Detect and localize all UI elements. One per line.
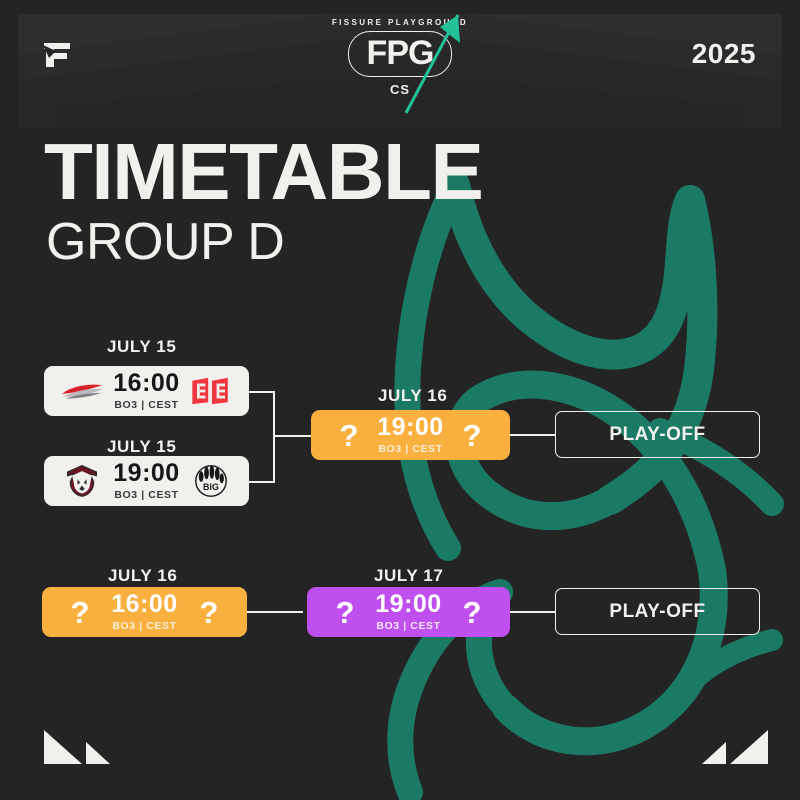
match-info: 19:00 BO3 | CEST <box>369 592 448 632</box>
match-card-winners-final[interactable]: ? 19:00 BO3 | CEST ? <box>311 410 510 460</box>
match-time: 19:00 <box>375 592 441 617</box>
match-info: 19:00 BO3 | CEST <box>373 415 448 455</box>
match-format: BO3 | CEST <box>376 620 440 632</box>
match-date-upper-2: JULY 15 <box>107 437 176 457</box>
match-date-upper-1: JULY 15 <box>107 337 176 357</box>
match-info: 19:00 BO3 | CEST <box>106 461 187 501</box>
bracket: JULY 15 16:00 BO3 | CEST <box>0 0 800 800</box>
question-mark-icon: ? <box>200 597 219 628</box>
team-placeholder-right: ? <box>448 593 496 631</box>
match-date-decider: JULY 17 <box>374 566 443 586</box>
playoff-label: PLAY-OFF <box>609 601 705 623</box>
double-triangle-right <box>700 722 770 766</box>
question-mark-icon: ? <box>340 420 359 451</box>
shield-wolf-logo <box>58 462 106 500</box>
team-placeholder-left: ? <box>325 416 373 454</box>
team-placeholder-right: ? <box>448 416 496 454</box>
match-format: BO3 | CEST <box>112 620 176 632</box>
playoff-label: PLAY-OFF <box>609 424 705 446</box>
match-time: 19:00 <box>377 415 443 440</box>
match-date-winners-final: JULY 16 <box>378 386 447 406</box>
match-card-lower[interactable]: ? 16:00 BO3 | CEST ? <box>42 587 247 637</box>
question-mark-icon: ? <box>71 597 90 628</box>
match-card-upper-2[interactable]: 19:00 BO3 | CEST BIG <box>44 456 249 506</box>
match-format: BO3 | CEST <box>378 443 442 455</box>
match-format: BO3 | CEST <box>114 489 178 501</box>
team-placeholder-left: ? <box>321 593 369 631</box>
match-time: 16:00 <box>113 371 179 396</box>
timetable-poster: 2025 FISSURE PLAYGROUND FPG CS TIMETABLE… <box>0 0 800 800</box>
match-card-decider[interactable]: ? 19:00 BO3 | CEST ? <box>307 587 510 637</box>
playoff-lower[interactable]: PLAY-OFF <box>555 588 760 635</box>
match-time: 16:00 <box>111 592 177 617</box>
match-info: 16:00 BO3 | CEST <box>104 592 185 632</box>
betboom-bb-logo <box>187 372 235 410</box>
question-mark-icon: ? <box>336 597 355 628</box>
question-mark-icon: ? <box>463 597 482 628</box>
big-claw-logo: BIG <box>187 462 235 500</box>
nrg-swoosh-logo <box>58 372 106 410</box>
match-time: 19:00 <box>113 461 179 486</box>
team-placeholder-left: ? <box>56 593 104 631</box>
question-mark-icon: ? <box>463 420 482 451</box>
team-placeholder-right: ? <box>185 593 233 631</box>
match-card-upper-1[interactable]: 16:00 BO3 | CEST <box>44 366 249 416</box>
double-triangle-left <box>42 722 112 766</box>
match-date-lower: JULY 16 <box>108 566 177 586</box>
playoff-upper[interactable]: PLAY-OFF <box>555 411 760 458</box>
match-format: BO3 | CEST <box>114 399 178 411</box>
match-info: 16:00 BO3 | CEST <box>106 371 187 411</box>
svg-text:BIG: BIG <box>203 482 219 492</box>
